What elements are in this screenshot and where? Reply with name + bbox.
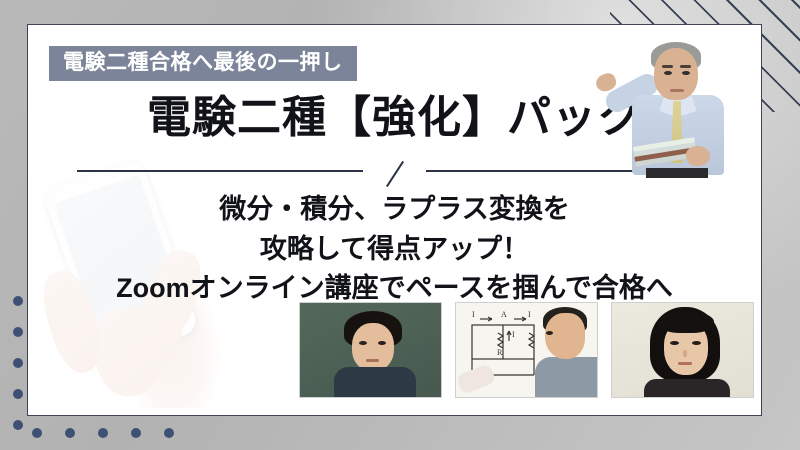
dot bbox=[13, 327, 23, 337]
body-line-2: 攻略して得点アップ！ bbox=[35, 230, 754, 270]
dot bbox=[13, 389, 23, 399]
student-fringe bbox=[658, 311, 714, 333]
dot bbox=[164, 428, 174, 438]
instructor-portrait-photo bbox=[606, 38, 746, 184]
svg-text:I: I bbox=[472, 310, 475, 319]
student-nose bbox=[683, 350, 687, 357]
dot bbox=[131, 428, 141, 438]
body-line-1: 微分・積分、ラプラス変換を bbox=[35, 190, 754, 230]
divider-rule-left bbox=[77, 170, 363, 172]
dot bbox=[98, 428, 108, 438]
student-torso bbox=[334, 367, 416, 398]
whiteboard-circuit-photo: I A I I R bbox=[455, 302, 598, 398]
instructor-eye bbox=[682, 71, 690, 75]
content-card-inner: 電験二種合格へ最後の一押し 電験二種【強化】パック 微分・積分、ラプラス変換を … bbox=[35, 32, 754, 408]
student-eye bbox=[378, 341, 386, 345]
student-eye bbox=[359, 341, 367, 345]
student-mouth bbox=[366, 359, 379, 362]
instructor-mouth bbox=[670, 89, 684, 92]
teacher-torso bbox=[535, 357, 597, 398]
dot bbox=[13, 420, 23, 430]
student-eye bbox=[670, 341, 679, 345]
student-webcam-photo bbox=[611, 302, 754, 398]
student-torso bbox=[644, 379, 730, 398]
instructor-belt bbox=[646, 168, 708, 178]
svg-text:A: A bbox=[501, 310, 507, 319]
dots-column-decoration bbox=[13, 296, 27, 450]
divider-slash-icon bbox=[385, 161, 403, 187]
content-card: 電験二種合格へ最後の一押し 電験二種【強化】パック 微分・積分、ラプラス変換を … bbox=[27, 24, 762, 416]
teacher-eye bbox=[546, 331, 553, 335]
dot bbox=[32, 428, 42, 438]
instructor-eyebrow bbox=[680, 65, 691, 68]
student-eye bbox=[692, 341, 701, 345]
svg-text:I: I bbox=[528, 310, 531, 319]
teacher-face bbox=[545, 313, 585, 359]
student-mouth bbox=[678, 362, 692, 365]
dot bbox=[13, 358, 23, 368]
dot bbox=[13, 296, 23, 306]
dots-row-decoration bbox=[32, 428, 197, 442]
instructor-face bbox=[654, 48, 698, 100]
student-face bbox=[352, 323, 394, 371]
instructor-eye bbox=[664, 71, 672, 75]
student-chalkboard-photo bbox=[299, 302, 442, 398]
svg-text:I: I bbox=[512, 330, 515, 339]
instructor-hand bbox=[686, 146, 710, 166]
svg-text:R: R bbox=[497, 348, 503, 357]
promo-slide: 電験二種合格へ最後の一押し 電験二種【強化】パック 微分・積分、ラプラス変換を … bbox=[0, 0, 800, 450]
body-copy: 微分・積分、ラプラス変換を 攻略して得点アップ！ Zoomオンライン講座でペース… bbox=[35, 190, 754, 309]
dot bbox=[65, 428, 75, 438]
instructor-eyebrow bbox=[662, 65, 673, 68]
photo-thumbnail-strip: I A I I R bbox=[299, 302, 754, 398]
tagline-badge: 電験二種合格へ最後の一押し bbox=[49, 46, 357, 81]
